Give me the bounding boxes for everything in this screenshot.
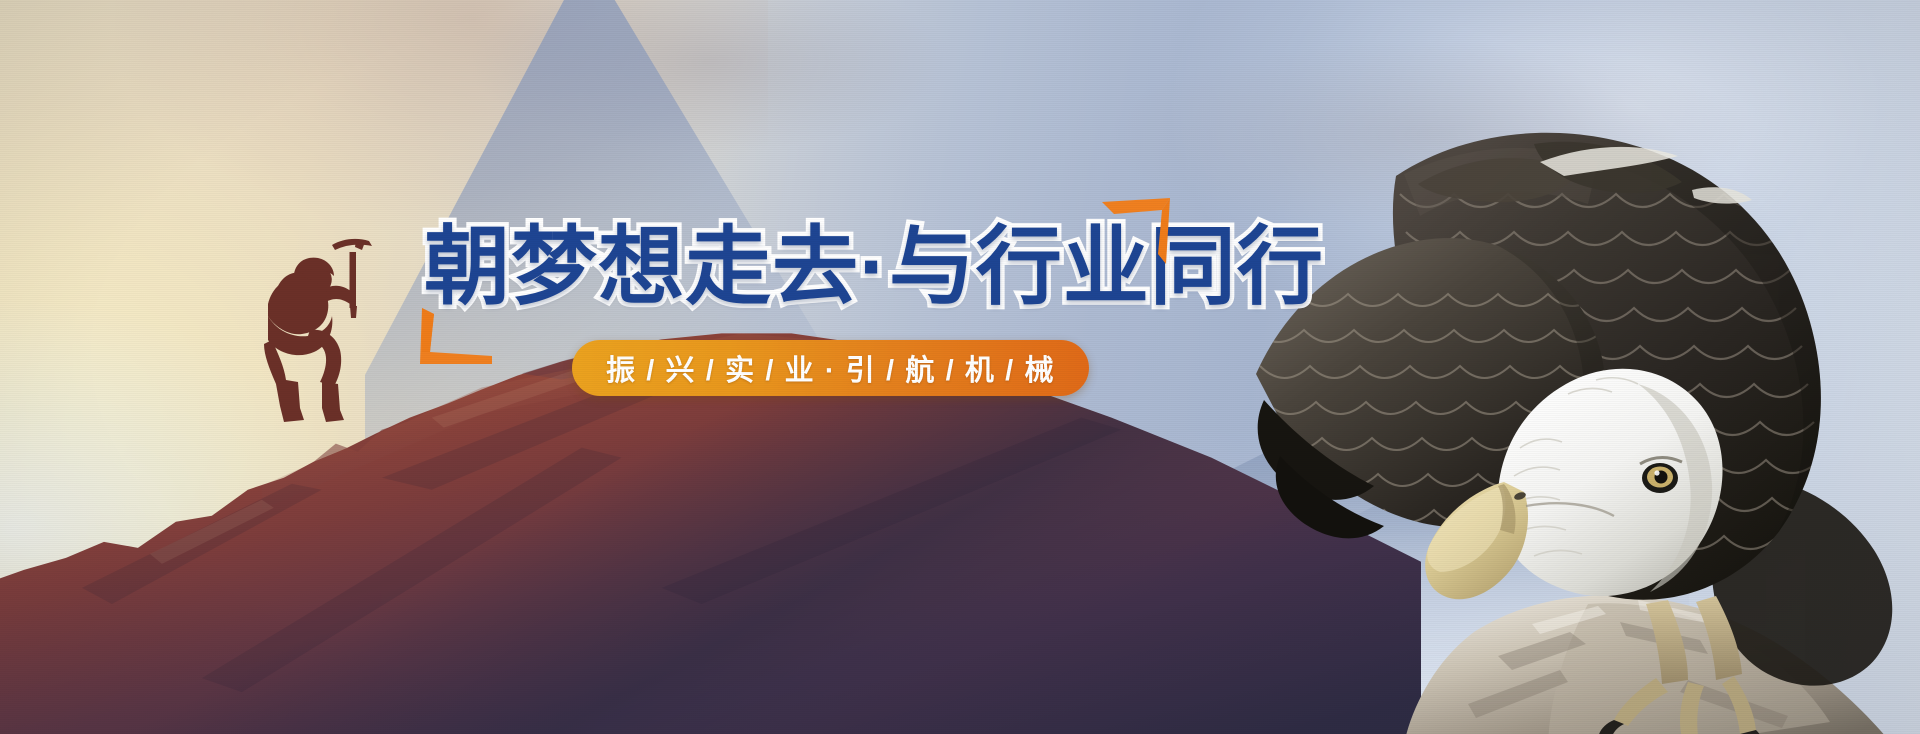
headline: 朝梦想走去·与行业同行: [424, 224, 1324, 310]
orange-corner-bracket-top-right: [1100, 196, 1172, 268]
subtitle-pill: 振 / 兴 / 实 / 业 · 引 / 航 / 机 / 械: [572, 340, 1089, 396]
climber-silhouette: [206, 212, 396, 442]
hero-banner: 朝梦想走去·与行业同行 振 / 兴 / 实 / 业 · 引 / 航 / 机 / …: [0, 0, 1920, 734]
bald-eagle: [1168, 44, 1920, 734]
banner-copy: 朝梦想走去·与行业同行 振 / 兴 / 实 / 业 · 引 / 航 / 机 / …: [406, 196, 1226, 416]
subtitle-pill-label: 振 / 兴 / 实 / 业 · 引 / 航 / 机 / 械: [606, 347, 1055, 389]
orange-corner-bracket-bottom-left: [406, 306, 494, 366]
